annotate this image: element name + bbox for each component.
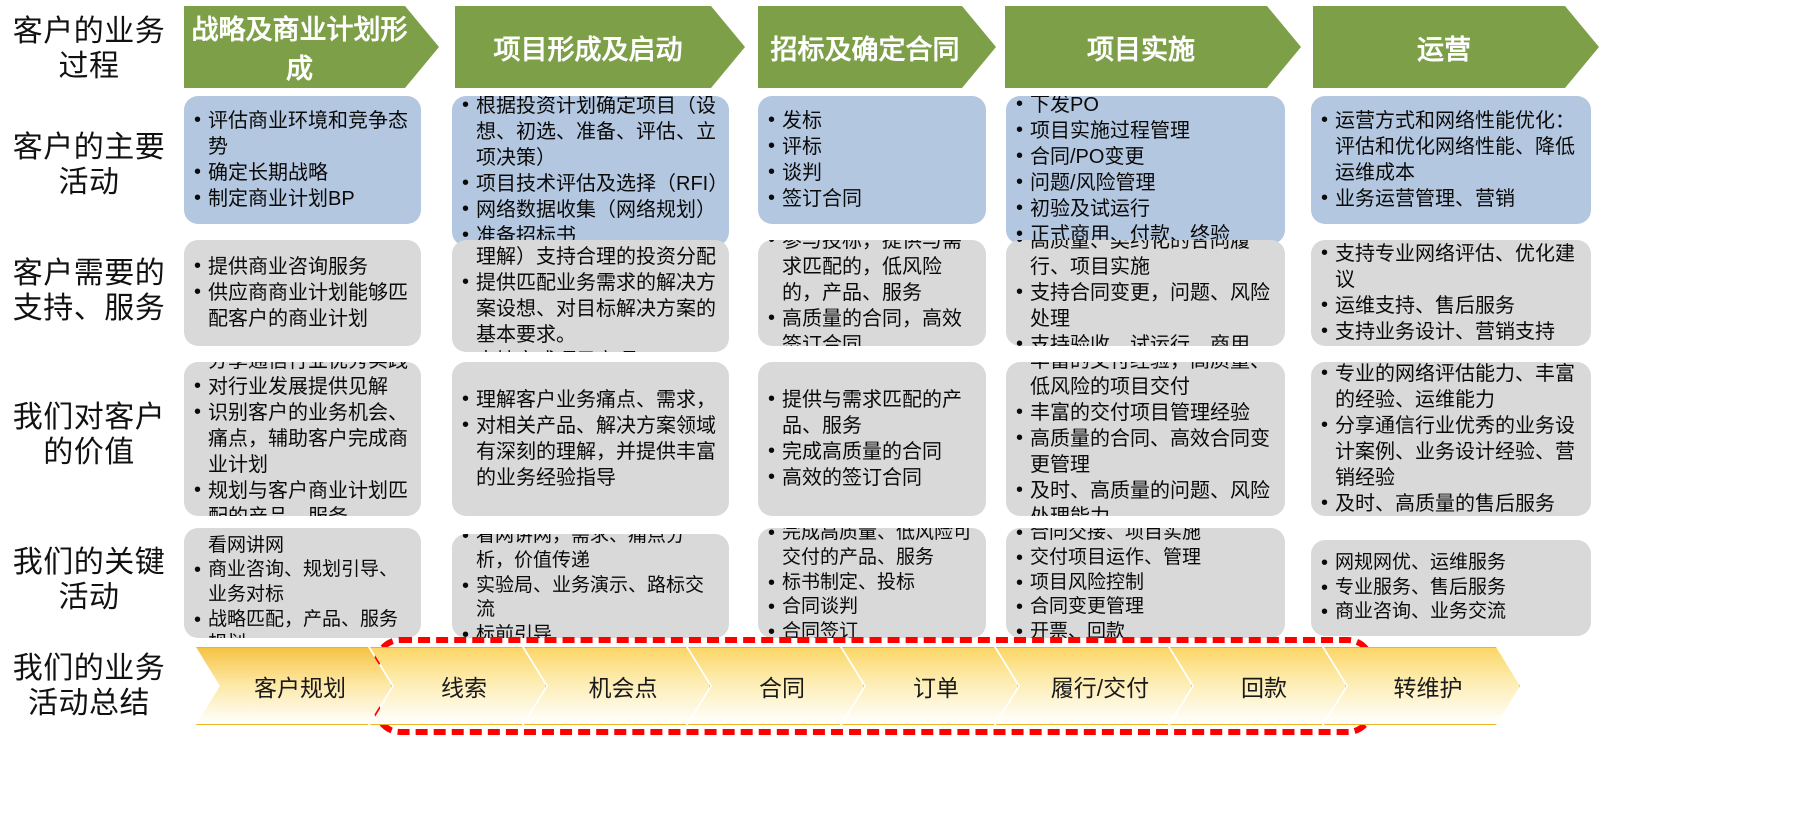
bullet-item: 提供匹配业务需求的解决方案设想、对目标解决方案的基本要求。: [460, 270, 719, 348]
bullet-item: 提供商业咨询服务: [192, 254, 411, 280]
bullet-item: 参与投标，提供与需求匹配的，低风险的，产品、服务: [766, 240, 976, 306]
chain-step-8[interactable]: 转维护: [1324, 647, 1520, 725]
slide-canvas: 客户的业务过程 客户的主要活动 客户需要的支持、服务 我们对客户的价值 我们的关…: [0, 0, 1809, 831]
phase-header-3[interactable]: 招标及确定合同: [758, 6, 996, 88]
bullet-item: 理解客户业务痛点、需求，: [460, 387, 719, 413]
chain-step-4[interactable]: 合同: [688, 647, 864, 725]
bullet-list: 支持专业网络评估、优化建议运维支持、售后服务支持业务设计、营销支持: [1319, 241, 1581, 345]
bullet-list: 提供业务分析（痛点、需求理解）支持合理的投资分配提供匹配业务需求的解决方案设想、…: [460, 240, 719, 352]
phase-header-label: 战略及商业计划形成: [184, 8, 415, 86]
customer-activities-cell-2[interactable]: 根据投资计划确定项目（设想、初选、准备、评估、立项决策）项目技术评估及选择（RF…: [452, 96, 729, 246]
bullet-list: 理解市场、理解客户、看网讲网商业咨询、规划引导、业务对标战略匹配，产品、服务规划: [192, 528, 411, 638]
chain-step-7[interactable]: 回款: [1170, 647, 1346, 725]
chain-step-label: 转维护: [1394, 669, 1463, 703]
bullet-list: 发标评标谈判签订合同: [766, 108, 976, 212]
support-needs-cell-5[interactable]: 支持专业网络评估、优化建议运维支持、售后服务支持业务设计、营销支持: [1311, 240, 1591, 346]
bullet-list: 理解客户业务痛点、需求，对相关产品、解决方案领域有深刻的理解，并提供丰富的业务经…: [460, 387, 719, 491]
bullet-item: 完成高质量的合同: [766, 439, 976, 465]
phase-header-label: 项目实施: [1087, 28, 1195, 67]
bullet-item: 对行业发展提供见解: [192, 374, 411, 400]
bullet-item: 支持合同变更，问题、风险处理: [1014, 280, 1275, 332]
bullet-item: 评估商业环境和竞争态势: [192, 108, 411, 160]
bullet-item: 分享通信行业优秀的业务设计案例、业务设计经验、营销经验: [1319, 413, 1581, 491]
bullet-item: 支持验收、试运行、商用: [1014, 332, 1275, 346]
bullet-item: 规划与客户商业计划匹配的产品、服务: [192, 478, 411, 516]
chain-step-3[interactable]: 机会点: [524, 647, 710, 725]
bullet-item: 供应商商业计划能够匹配客户的商业计划: [192, 280, 411, 332]
our-value-cell-4[interactable]: 丰富的交付经验，高质量、低风险的项目交付丰富的交付项目管理经验高质量的合同、高效…: [1006, 362, 1285, 516]
key-activities-cell-5[interactable]: 网规网优、运维服务专业服务、售后服务商业咨询、业务交流: [1311, 540, 1591, 636]
bullet-item: 签订合同: [766, 186, 976, 212]
chain-step-label: 回款: [1241, 669, 1287, 703]
phase-header-label: 招标及确定合同: [771, 28, 960, 67]
bullet-item: 高质量、契约化的合同履行、项目实施: [1014, 240, 1275, 280]
row-label-customer-activities: 客户的主要活动: [0, 106, 178, 226]
bullet-list: 运营方式和网络性能优化：评估和优化网络性能、降低运维成本业务运营管理、营销: [1319, 108, 1581, 212]
bullet-item: 专业服务、售后服务: [1319, 576, 1581, 601]
phase-header-4[interactable]: 项目实施: [1005, 6, 1301, 88]
row-label-text: 我们的关键活动: [0, 546, 178, 616]
bullet-list: 高质量、契约化的合同履行、项目实施支持合同变更，问题、风险处理支持验收、试运行、…: [1014, 240, 1275, 346]
bullet-item: 合同交接、项目实施: [1014, 528, 1275, 546]
bullet-item: 合同签订: [766, 620, 976, 638]
bullet-list: 提供与需求匹配的产品、服务完成高质量的合同高效的签订合同: [766, 387, 976, 491]
key-activities-cell-3[interactable]: 完成高质量、低风险可交付的产品、服务标书制定、投标合同谈判合同签订: [758, 528, 986, 638]
support-needs-cell-4[interactable]: 高质量、契约化的合同履行、项目实施支持合同变更，问题、风险处理支持验收、试运行、…: [1006, 240, 1285, 346]
bullet-item: 评标: [766, 134, 976, 160]
phase-header-label: 项目形成及启动: [494, 28, 683, 67]
chain-step-5[interactable]: 订单: [842, 647, 1018, 725]
key-activities-cell-4[interactable]: 合同交接、项目实施交付项目运作、管理项目风险控制合同变更管理开票、回款: [1006, 528, 1285, 638]
bullet-list: 合同交接、项目实施交付项目运作、管理项目风险控制合同变更管理开票、回款: [1014, 528, 1275, 638]
business-activity-chain: 客户规划线索机会点合同订单履行/交付回款转维护: [196, 647, 1498, 725]
bullet-item: 及时、高质量的问题、风险处理能力: [1014, 478, 1275, 516]
phase-header-label: 运营: [1417, 28, 1471, 67]
bullet-item: 下发PO: [1014, 96, 1275, 118]
bullet-item: 标书制定、投标: [766, 571, 976, 596]
bullet-item: 商业咨询、业务交流: [1319, 600, 1581, 625]
row-label-text: 客户需要的支持、服务: [0, 257, 178, 327]
bullet-item: 支持业务设计、营销支持: [1319, 319, 1581, 345]
bullet-item: 确定长期战略: [192, 160, 411, 186]
support-needs-cell-3[interactable]: 参与投标，提供与需求匹配的，低风险的，产品、服务高质量的合同，高效签订合同: [758, 240, 986, 346]
our-value-cell-2[interactable]: 理解客户业务痛点、需求，对相关产品、解决方案领域有深刻的理解，并提供丰富的业务经…: [452, 362, 729, 516]
bullet-item: 业务运营管理、营销: [1319, 186, 1581, 212]
our-value-cell-3[interactable]: 提供与需求匹配的产品、服务完成高质量的合同高效的签订合同: [758, 362, 986, 516]
bullet-item: 提供业务分析（痛点、需求理解）支持合理的投资分配: [460, 240, 719, 270]
chain-step-label: 订单: [913, 669, 959, 703]
support-needs-cell-2[interactable]: 提供业务分析（痛点、需求理解）支持合理的投资分配提供匹配业务需求的解决方案设想、…: [452, 240, 729, 352]
bullet-item: 高效的签订合同: [766, 465, 976, 491]
bullet-item: 运维支持、售后服务: [1319, 293, 1581, 319]
bullet-list: 看网讲网，需求、痛点分析，价值传递实验局、业务演示、路标交流标前引导: [460, 534, 719, 638]
bullet-list: 根据投资计划确定项目（设想、初选、准备、评估、立项决策）项目技术评估及选择（RF…: [460, 96, 719, 246]
phase-header-5[interactable]: 运营: [1313, 6, 1599, 88]
row-label-business-summary: 我们的业务活动总结: [0, 642, 178, 732]
our-value-cell-5[interactable]: 专业的网络评估能力、丰富的经验、运维能力分享通信行业优秀的业务设计案例、业务设计…: [1311, 362, 1591, 516]
bullet-item: 高质量的合同，高效签订合同: [766, 306, 976, 346]
chain-step-label: 客户规划: [254, 669, 346, 703]
bullet-item: 商业咨询、规划引导、业务对标: [192, 558, 411, 607]
row-label-text: 我们的业务活动总结: [0, 652, 178, 722]
bullet-list: 评估商业环境和竞争态势确定长期战略制定商业计划BP: [192, 108, 411, 212]
chain-step-6[interactable]: 履行/交付: [996, 647, 1192, 725]
row-label-support-needs: 客户需要的支持、服务: [0, 236, 178, 348]
bullet-item: 看网讲网，需求、痛点分析，价值传递: [460, 534, 719, 574]
bullet-item: 专业的网络评估能力、丰富的经验、运维能力: [1319, 362, 1581, 413]
bullet-list: 下发PO项目实施过程管理合同/PO变更问题/风险管理 初验及试运行 正式商用、付…: [1014, 96, 1275, 244]
bullet-item: 初验及试运行: [1014, 196, 1275, 222]
bullet-item: 网络数据收集（网络规划）: [460, 197, 719, 223]
bullet-item: 项目实施过程管理: [1014, 118, 1275, 144]
bullet-list: 专业的网络评估能力、丰富的经验、运维能力分享通信行业优秀的业务设计案例、业务设计…: [1319, 362, 1581, 516]
bullet-item: 理解市场、理解客户、看网讲网: [192, 528, 411, 558]
bullet-item: 实验局、业务演示、路标交流: [460, 574, 719, 623]
bullet-item: 识别客户的业务机会、痛点，辅助客户完成商业计划: [192, 400, 411, 478]
chain-step-label: 线索: [441, 669, 487, 703]
key-activities-cell-1[interactable]: 理解市场、理解客户、看网讲网商业咨询、规划引导、业务对标战略匹配，产品、服务规划: [184, 528, 421, 638]
bullet-item: 标前引导: [460, 623, 719, 638]
bullet-list: 提供商业咨询服务供应商商业计划能够匹配客户的商业计划: [192, 254, 411, 332]
row-label-text: 客户的业务过程: [0, 15, 178, 85]
bullet-list: 丰富的交付经验，高质量、低风险的项目交付丰富的交付项目管理经验高质量的合同、高效…: [1014, 362, 1275, 516]
row-label-text: 客户的主要活动: [0, 131, 178, 201]
bullet-item: 交付项目运作、管理: [1014, 546, 1275, 571]
bullet-item: 网规网优、运维服务: [1319, 551, 1581, 576]
chain-step-1[interactable]: 客户规划: [196, 647, 392, 725]
row-label-text: 我们对客户的价值: [0, 401, 178, 471]
bullet-item: 项目技术评估及选择（RFI）: [460, 171, 719, 197]
bullet-item: 制定商业计划BP: [192, 186, 411, 212]
bullet-item: 支持完成项目立项: [460, 348, 719, 352]
chain-step-label: 履行/交付: [1051, 669, 1149, 703]
bullet-item: 支持专业网络评估、优化建议: [1319, 241, 1581, 293]
bullet-item: 运营方式和网络性能优化：评估和优化网络性能、降低运维成本: [1319, 108, 1581, 186]
phase-header-2[interactable]: 项目形成及启动: [455, 6, 745, 88]
row-label-key-activities: 我们的关键活动: [0, 524, 178, 638]
bullet-item: 战略匹配，产品、服务规划: [192, 608, 411, 638]
bullet-item: 丰富的交付经验，高质量、低风险的项目交付: [1014, 362, 1275, 400]
our-value-cell-1[interactable]: 分享通信行业优秀实践对行业发展提供见解识别客户的业务机会、痛点，辅助客户完成商业…: [184, 362, 421, 516]
bullet-item: 丰富的交付项目管理经验: [1014, 400, 1275, 426]
bullet-item: 谈判: [766, 160, 976, 186]
phase-header-1[interactable]: 战略及商业计划形成: [184, 6, 439, 88]
bullet-item: 项目风险控制: [1014, 571, 1275, 596]
bullet-item: 及时、高质量的售后服务: [1319, 491, 1581, 516]
bullet-item: 高质量的合同、高效合同变更管理: [1014, 426, 1275, 478]
bullet-item: 对相关产品、解决方案领域有深刻的理解，并提供丰富的业务经验指导: [460, 413, 719, 491]
bullet-item: 根据投资计划确定项目（设想、初选、准备、评估、立项决策）: [460, 96, 719, 171]
row-label-business-process: 客户的业务过程: [0, 6, 178, 94]
customer-activities-cell-5[interactable]: 运营方式和网络性能优化：评估和优化网络性能、降低运维成本业务运营管理、营销: [1311, 96, 1591, 224]
bullet-item: 合同/PO变更: [1014, 144, 1275, 170]
customer-activities-cell-4[interactable]: 下发PO项目实施过程管理合同/PO变更问题/风险管理 初验及试运行 正式商用、付…: [1006, 96, 1285, 244]
bullet-list: 完成高质量、低风险可交付的产品、服务标书制定、投标合同谈判合同签订: [766, 528, 976, 638]
chain-step-2[interactable]: 线索: [370, 647, 546, 725]
bullet-list: 参与投标，提供与需求匹配的，低风险的，产品、服务高质量的合同，高效签订合同: [766, 240, 976, 346]
bullet-item: 提供与需求匹配的产品、服务: [766, 387, 976, 439]
bullet-item: 分享通信行业优秀实践: [192, 362, 411, 374]
bullet-item: 开票、回款: [1014, 620, 1275, 638]
bullet-item: 发标: [766, 108, 976, 134]
chain-step-label: 机会点: [589, 669, 658, 703]
customer-activities-cell-3[interactable]: 发标评标谈判签订合同: [758, 96, 986, 224]
customer-activities-cell-1[interactable]: 评估商业环境和竞争态势确定长期战略制定商业计划BP: [184, 96, 421, 224]
bullet-item: 问题/风险管理: [1014, 170, 1275, 196]
row-label-our-value: 我们对客户的价值: [0, 356, 178, 516]
bullet-item: 完成高质量、低风险可交付的产品、服务: [766, 528, 976, 571]
chain-step-label: 合同: [759, 669, 805, 703]
bullet-item: 合同谈判: [766, 595, 976, 620]
bullet-item: 合同变更管理: [1014, 595, 1275, 620]
bullet-list: 网规网优、运维服务专业服务、售后服务商业咨询、业务交流: [1319, 551, 1581, 625]
support-needs-cell-1[interactable]: 提供商业咨询服务供应商商业计划能够匹配客户的商业计划: [184, 240, 421, 346]
bullet-list: 分享通信行业优秀实践对行业发展提供见解识别客户的业务机会、痛点，辅助客户完成商业…: [192, 362, 411, 516]
key-activities-cell-2[interactable]: 看网讲网，需求、痛点分析，价值传递实验局、业务演示、路标交流标前引导: [452, 534, 729, 638]
